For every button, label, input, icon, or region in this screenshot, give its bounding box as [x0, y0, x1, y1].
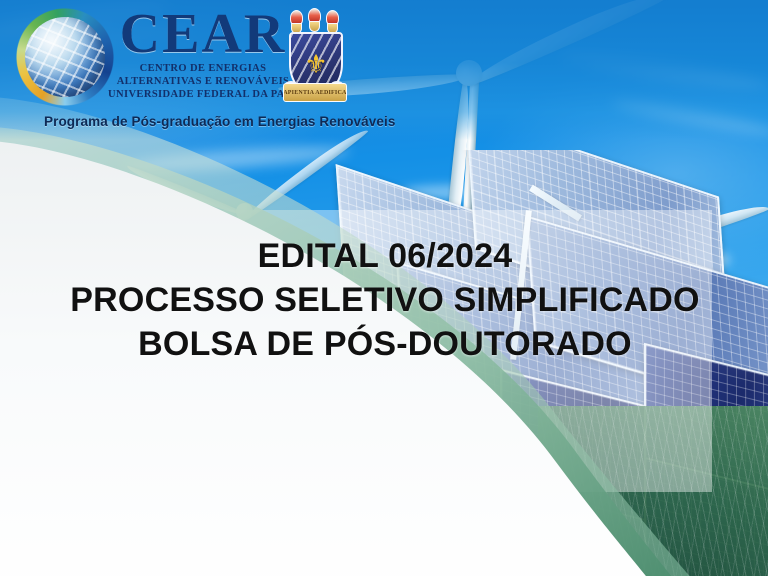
header-bar: CEAR CENTRO DE ENERGIAS ALTERNATIVAS E R…: [0, 0, 768, 140]
poster-slide: CEAR CENTRO DE ENERGIAS ALTERNATIVAS E R…: [0, 0, 768, 576]
cear-subtitle-line-3: UNIVERSIDADE FEDERAL DA PARAÍBA: [108, 88, 298, 101]
title-line-processo: PROCESSO SELETIVO SIMPLIFICADO: [58, 280, 712, 320]
cear-subtitle-line-2: ALTERNATIVAS E RENOVÁVEIS: [108, 75, 298, 88]
title-line-bolsa: BOLSA DE PÓS-DOUTORADO: [58, 324, 712, 364]
globe-sphere-icon: [25, 17, 105, 97]
globe-logo-icon: [14, 6, 116, 108]
cear-acronym: CEAR: [108, 6, 298, 62]
seal-motto-banner: SAPIENTIA AEDIFICAT: [283, 83, 347, 102]
fleur-de-lis-icon: ⚜: [304, 51, 327, 77]
cear-wordmark: CEAR CENTRO DE ENERGIAS ALTERNATIVAS E R…: [108, 6, 298, 101]
torch-icon: [289, 10, 302, 34]
program-subtitle: Programa de Pós-graduação em Energias Re…: [44, 114, 395, 129]
torch-icon: [325, 10, 338, 34]
ufpb-coat-of-arms-icon: ⚜ SAPIENTIA AEDIFICAT: [283, 10, 345, 102]
torch-icon: [307, 8, 320, 32]
title-line-edital: EDITAL 06/2024: [58, 236, 712, 276]
page-title: EDITAL 06/2024 PROCESSO SELETIVO SIMPLIF…: [58, 236, 712, 364]
